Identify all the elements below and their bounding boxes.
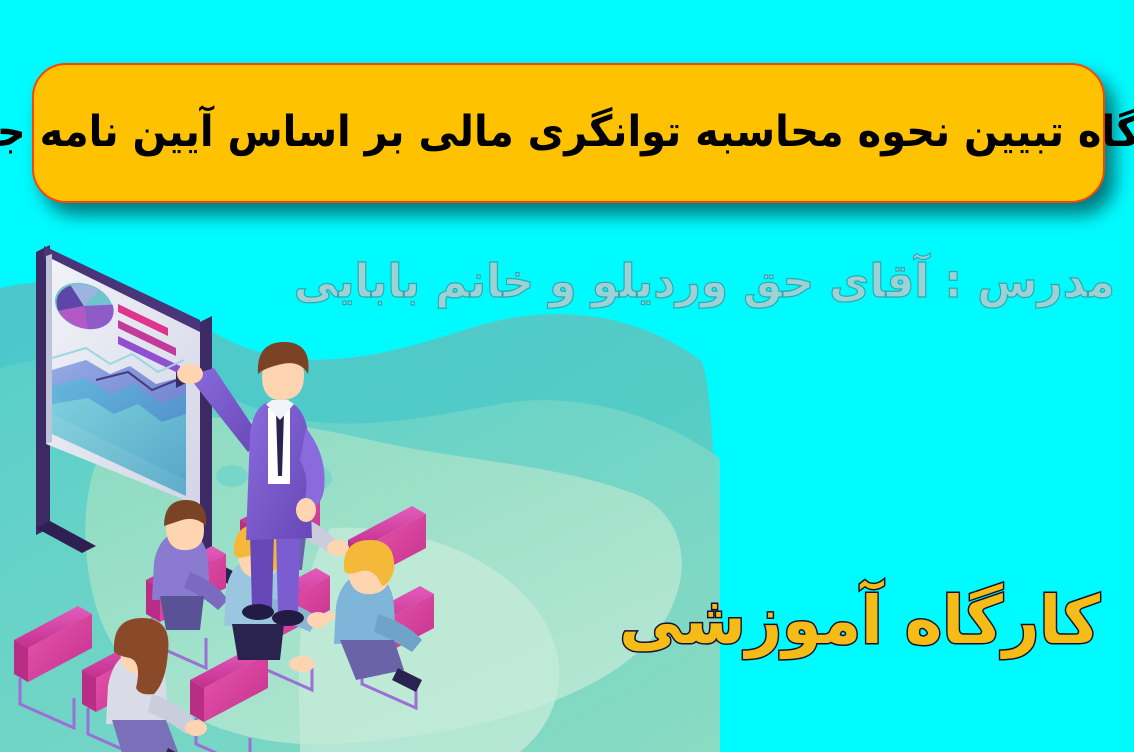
board-rail-top [44, 246, 200, 332]
presenter-arm-hip [300, 428, 325, 509]
board-post-right-foot [196, 560, 246, 586]
instructor-text: مدرس : آقای حق وردیلو و خانم بابایی [450, 250, 1115, 312]
presenter-figure [177, 342, 325, 626]
presenter-jacket [246, 400, 312, 540]
board-post-left-foot [36, 521, 96, 553]
presentation-board [36, 245, 246, 586]
chair [190, 646, 268, 752]
attendee-right-blue [334, 540, 422, 692]
poster-canvas: کارگاه تبیین نحوه محاسبه توانگری مالی بر… [0, 0, 1134, 752]
blob-outer-teal [0, 282, 720, 752]
chair-group [14, 486, 434, 752]
caption-text: کارگاه آموزشی [582, 566, 1100, 676]
presenter-hand-hip [296, 498, 316, 522]
attendee-back-grey [254, 442, 349, 570]
presenter-shoe-right [272, 610, 304, 626]
presenter-tie [276, 412, 284, 476]
presenter-collar [266, 400, 294, 420]
presenter-shoe-left [242, 604, 274, 620]
chair [14, 606, 92, 728]
board-bar-group [118, 304, 180, 374]
title-banner: کارگاه تبیین نحوه محاسبه توانگری مالی بر… [32, 63, 1105, 203]
blob-dot-large [260, 460, 332, 496]
chair [348, 506, 426, 628]
chair [240, 486, 320, 608]
attendee-front-woman [106, 618, 207, 752]
board-post-right [196, 316, 212, 576]
presenter-hair [258, 342, 309, 374]
chair [252, 568, 330, 690]
attendee-purple [152, 500, 228, 630]
audience-group [106, 442, 422, 752]
chair [356, 586, 434, 708]
attendee-blonde-blue [224, 524, 338, 672]
presenter-leg-right [276, 534, 300, 614]
board-post-left [36, 245, 50, 535]
presenter-leg-left [250, 534, 274, 608]
blob-lower-light [299, 528, 559, 752]
background-blob-group [0, 282, 720, 752]
chair [146, 546, 226, 668]
presenter-hand [177, 364, 203, 384]
board-panel-edge [46, 254, 52, 444]
presenter-arm-raised [188, 368, 262, 452]
title-text: کارگاه تبیین نحوه محاسبه توانگری مالی بر… [0, 106, 1134, 160]
board-pie-chart [48, 274, 120, 337]
chair [82, 636, 160, 752]
blob-mid-teal [0, 358, 720, 752]
presenter-shirt [268, 408, 290, 484]
blob-dot-small [216, 465, 248, 487]
board-panel [46, 256, 200, 506]
board-area-chart [52, 348, 192, 496]
presenter-head [262, 350, 304, 400]
